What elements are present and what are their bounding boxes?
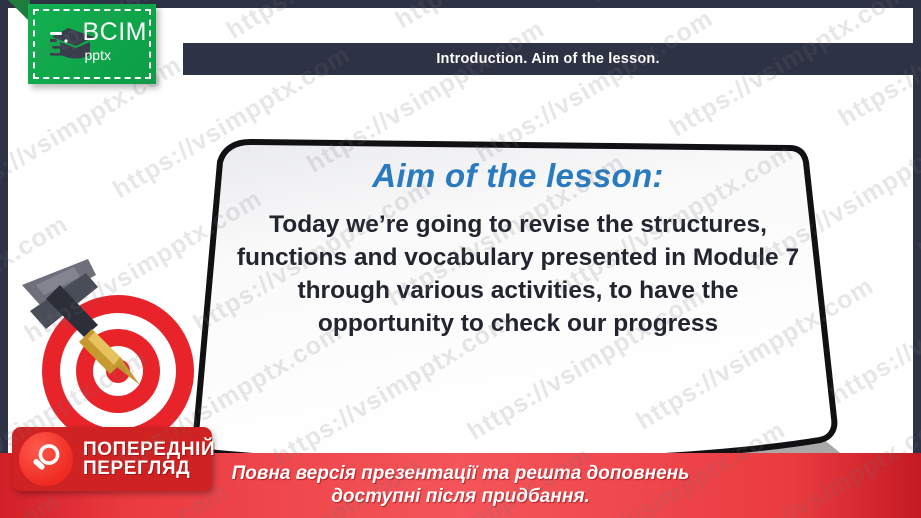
logo-subtitle: pptx <box>85 48 148 62</box>
preview-badge-line-2: ПЕРЕГЛЯД <box>83 459 215 478</box>
aim-body: Today we’re going to revise the structur… <box>213 208 823 340</box>
slide-root: Aim of the lesson: Today we’re going to … <box>0 0 921 518</box>
magnifier-icon <box>19 432 73 486</box>
aim-title: Aim of the lesson: <box>213 158 823 194</box>
bcim-logo[interactable]: BCIM pptx <box>28 4 156 84</box>
preview-badge-line-1: ПОПЕРЕДНІЙ <box>83 440 215 459</box>
preview-badge-text: ПОПЕРЕДНІЙ ПЕРЕГЛЯД <box>83 440 215 479</box>
logo-title: BCIM <box>83 20 148 45</box>
logo-wordmark: BCIM pptx <box>83 20 148 62</box>
sheet-text-block: Aim of the lesson: Today we’re going to … <box>213 158 823 341</box>
dart-and-target-illustration <box>8 233 215 448</box>
banner-line-1: Повна версія презентації та решта доповн… <box>232 463 690 485</box>
page-title: Introduction. Aim of the lesson. <box>436 51 659 67</box>
banner-line-2: доступні після придбання. <box>331 486 590 508</box>
watermark-text: https://vsimpptx.com <box>914 102 921 266</box>
preview-badge[interactable]: ПОПЕРЕДНІЙ ПЕРЕГЛЯД <box>12 427 212 491</box>
header-bar: Introduction. Aim of the lesson. <box>183 43 913 75</box>
